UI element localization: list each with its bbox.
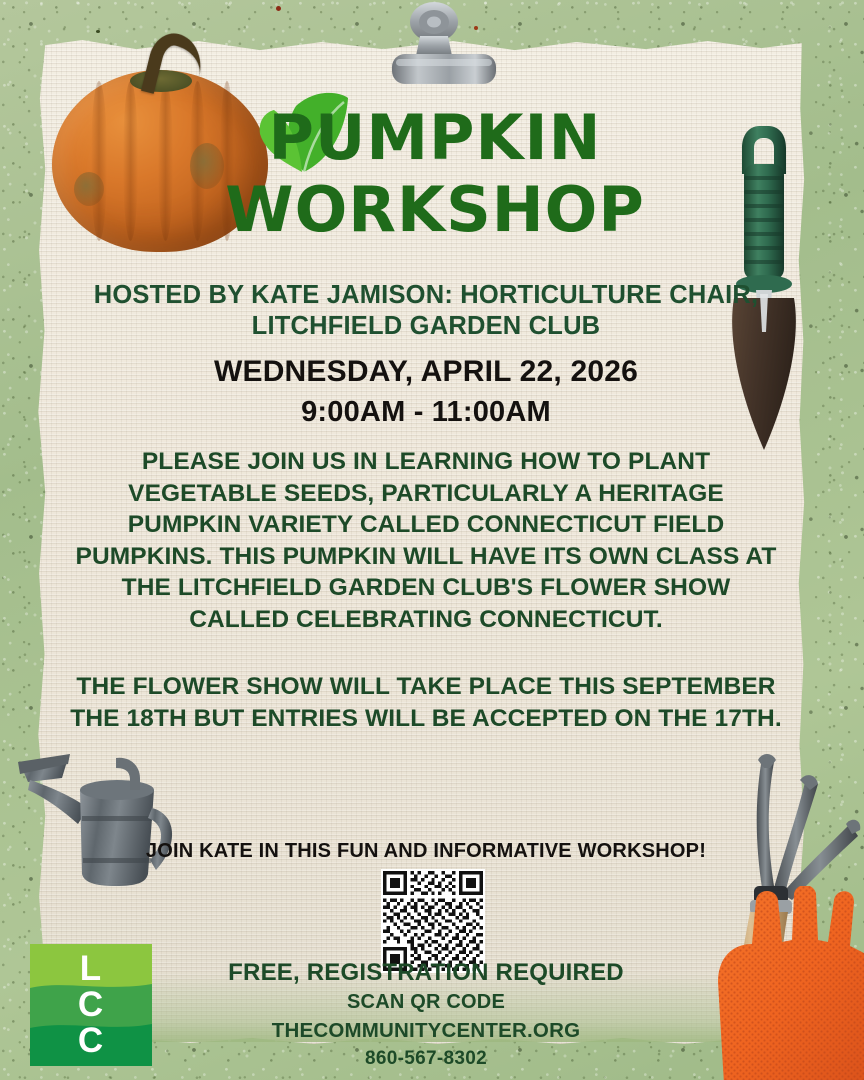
host-line-2: Litchfield Garden Club <box>56 311 796 342</box>
poster-content: Pumpkin Workshop Hosted by Kate Jamison:… <box>56 96 796 864</box>
event-description: Please join us in learning how to plant … <box>71 446 781 635</box>
host-line-1: Hosted by Kate Jamison: Horticulture Cha… <box>56 280 796 311</box>
poster-canvas: L C C <box>0 0 864 1080</box>
registration-free-label: Free, Registration Required <box>56 958 796 988</box>
bulldog-clip-icon <box>386 2 504 94</box>
title-line-2: Workshop <box>74 174 796 246</box>
website-link[interactable]: thecommunitycenter.org <box>56 1016 796 1045</box>
registration-footer: Free, Registration Required Scan QR Code… <box>56 958 796 1072</box>
event-time: 9:00AM - 11:00AM <box>56 392 796 432</box>
title-line-1: Pumpkin <box>74 102 796 174</box>
background-fleck-dark <box>96 30 100 33</box>
event-date: Wednesday, April 22, 2026 <box>56 352 796 392</box>
background-fleck-red <box>276 6 281 11</box>
flower-show-note: The Flower Show will take place this Sep… <box>66 671 786 734</box>
event-datetime: Wednesday, April 22, 2026 9:00AM - 11:00… <box>56 352 796 432</box>
scan-qr-label: Scan QR Code <box>56 988 796 1016</box>
phone-number[interactable]: 860-567-8302 <box>56 1045 796 1072</box>
host-info: Hosted by Kate Jamison: Horticulture Cha… <box>56 280 796 342</box>
join-callout: Join Kate in this fun and informative wo… <box>56 838 796 864</box>
page-title: Pumpkin Workshop <box>74 96 796 246</box>
